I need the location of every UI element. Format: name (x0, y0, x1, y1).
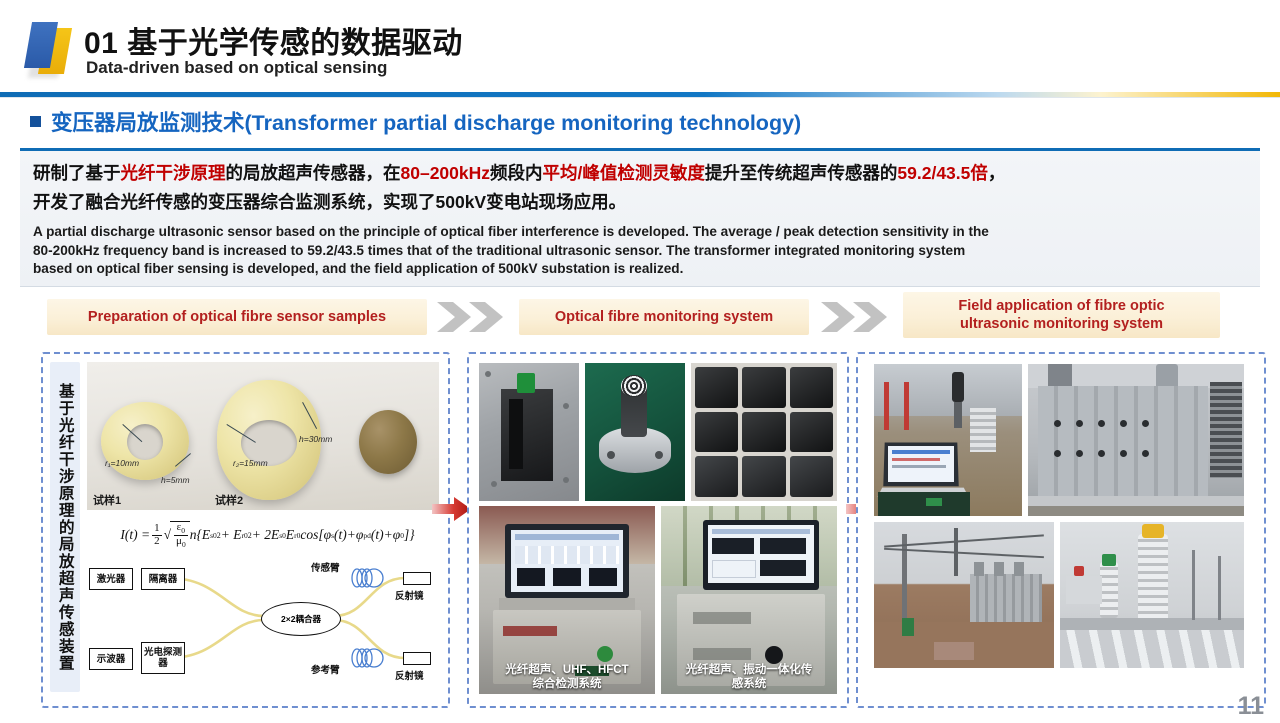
sample2-label: 试样2 (215, 492, 243, 508)
formula-ra: n{E (190, 527, 210, 543)
caption-uhf-hfct-line1: 光纤超声、UHF、HFCT (505, 664, 628, 676)
page-title-en: Data-driven based on optical sensing (86, 58, 387, 78)
diagram-mirror-top-icon (403, 572, 431, 585)
stmt-cn-line2: 开发了融合光纤传感的变压器综合监测系统，实现了500kV变电站现场应用。 (33, 192, 626, 212)
formula-rg: + 2E (252, 527, 279, 543)
slide-root: 01 基于光学传感的数据驱动 Data-driven based on opti… (0, 0, 1280, 723)
stmt-en-line2: 80-200kHz frequency band is increased to… (33, 242, 1248, 261)
diagram-sensing-arm-label: 传感臂 (311, 560, 340, 574)
formula-fraction: 1 2 (152, 523, 162, 547)
formula-eps-sub: 0 (181, 526, 185, 535)
diagram-mirror-bottom-icon (403, 652, 431, 665)
metal-flange-sensor-photo (585, 363, 685, 501)
formula-sqrt-body: ε0 μ0 (170, 521, 190, 549)
formula-rh: s0 (279, 531, 286, 540)
stmt-en-line1: A partial discharge ultrasonic sensor ba… (33, 223, 1248, 242)
formula-rk: cos[φ (300, 527, 331, 543)
chevron-right-icon-2 (819, 300, 895, 334)
header-divider-thin (0, 97, 1280, 98)
panel-monitoring-system: 光纤超声、UHF、HFCT 综合检测系统 光纤超声、振动一体化传 感系统 (467, 352, 849, 708)
summary-statement-box: 研制了基于光纤干涉原理的局放超声传感器，在80–200kHz频段内平均/峰值检测… (20, 148, 1260, 287)
diagram-mirror-bottom-label: 反射镜 (395, 668, 424, 682)
dim-h1-label: h=5mm (161, 475, 190, 485)
formula-rb: s0 (210, 531, 217, 540)
section-subheading-label: 变压器局放监测技术(Transformer partial discharge … (51, 106, 801, 137)
fiber-ultrasonic-vibration-photo: 光纤超声、振动一体化传 感系统 (661, 506, 837, 694)
diagram-oscilloscope-box: 示波器 (89, 648, 133, 670)
caption-uhf-hfct: 光纤超声、UHF、HFCT 综合检测系统 (479, 661, 655, 694)
dim-r2-label: r₂=15mm (233, 458, 268, 468)
banner-monitoring-system-label: Optical fibre monitoring system (555, 309, 773, 325)
dim-r1-label: r₁=10mm (105, 458, 139, 468)
interference-intensity-formula: I(t) = 1 2 √ ε0 μ0 n{Es02+ Er02+ 2Es0Er0… (95, 518, 440, 552)
formula-rm: (t)+φ (334, 527, 363, 543)
formula-frac-den: 2 (152, 536, 162, 548)
panel-sensor-preparation: 基于光纤干涉原理的局放超声传感装置 r₁=10mm h=5mm r₂=15mm … (41, 352, 450, 708)
banner-monitoring-system: Optical fibre monitoring system (519, 299, 809, 335)
banner-field-application: Field application of fibre optic ultraso… (903, 292, 1220, 338)
stmt-cn-a: 研制了基于 (33, 163, 121, 183)
formula-lhs: I(t) = (120, 527, 150, 543)
summary-statement-cn: 研制了基于光纤干涉原理的局放超声传感器，在80–200kHz频段内平均/峰值检测… (33, 159, 1248, 217)
brand-logo-icon (26, 22, 82, 80)
section-subheading: 变压器局放监测技术(Transformer partial discharge … (30, 106, 801, 137)
stmt-en-line3: based on optical fiber sensing is develo… (33, 260, 1248, 279)
slide-header: 01 基于光学传感的数据驱动 Data-driven based on opti… (0, 0, 1280, 92)
chevron-right-icon-1 (435, 300, 511, 334)
indoor-test-laptop-photo (874, 364, 1022, 516)
outdoor-substation-photo (874, 522, 1054, 668)
diagram-isolator-box: 隔离器 (141, 568, 185, 590)
black-optical-mount-photo (479, 363, 579, 501)
stmt-cn-e: ， (988, 163, 1006, 183)
square-bullet-icon (30, 116, 41, 127)
coin-scale-reference-icon (359, 410, 417, 474)
stmt-cn-b: 的局放超声传感器，在 (226, 163, 401, 183)
panel-field-application (856, 352, 1266, 708)
diagram-photodetector-box: 光电探测器 (141, 642, 185, 674)
summary-statement-en: A partial discharge ultrasonic sensor ba… (33, 223, 1248, 279)
banner-field-application-line1: Field application of fibre optic (958, 297, 1164, 315)
diagram-laser-box: 激光器 (89, 568, 133, 590)
vertical-label-box: 基于光纤干涉原理的局放超声传感装置 (50, 362, 80, 692)
red-arrow-icon-1 (432, 496, 472, 522)
diagram-coupler-ellipse: 2×2耦合器 (261, 602, 341, 636)
formula-ri: E (286, 527, 294, 543)
substation-bushing-photo (1060, 522, 1244, 668)
stmt-cn-d: 提升至传统超声传感器的 (705, 163, 898, 183)
ring-sample-1-icon (101, 402, 189, 480)
caption-vibration: 光纤超声、振动一体化传 感系统 (661, 661, 837, 694)
sensor-samples-photo: r₁=10mm h=5mm r₂=15mm h=30mm 试样1 试样2 (87, 362, 439, 510)
stmt-cn-hi1: 光纤干涉原理 (121, 163, 226, 183)
banner-preparation-label: Preparation of optical fibre sensor samp… (88, 309, 386, 325)
stmt-cn-hi4: 59.2/43.5倍 (897, 163, 987, 183)
caption-vibration-line2: 感系统 (732, 678, 767, 690)
stmt-cn-hi2: 80–200kHz (401, 163, 491, 183)
sample1-label: 试样1 (93, 492, 121, 508)
vertical-label-text: 基于光纤干涉原理的局放超声传感装置 (57, 383, 73, 672)
diagram-mirror-top-label: 反射镜 (395, 588, 424, 602)
caption-vibration-line1: 光纤超声、振动一体化传 (686, 664, 813, 676)
banner-field-application-line2: ultrasonic monitoring system (958, 315, 1164, 333)
formula-rd: + E (221, 527, 242, 543)
formula-ro: (t)+φ (371, 527, 400, 543)
interferometer-schematic: 激光器 隔离器 示波器 光电探测器 2×2耦合器 传感臂 参考臂 反射镜 反射镜 (89, 554, 441, 692)
formula-rq: ]} (404, 527, 415, 543)
formula-mu-sub: 0 (182, 540, 186, 549)
stmt-cn-hi3: 平均/峰值检测灵敏度 (543, 163, 705, 183)
fiber-ultrasonic-uhf-hfct-photo: 光纤超声、UHF、HFCT 综合检测系统 (479, 506, 655, 694)
caption-uhf-hfct-line2: 综合检测系统 (533, 678, 602, 690)
gray-transformer-photo (1028, 364, 1244, 516)
formula-frac-num: 1 (152, 523, 162, 536)
diagram-reference-arm-label: 参考臂 (311, 662, 340, 676)
stmt-cn-c: 频段内 (490, 163, 543, 183)
page-title-cn: 01 基于光学传感的数据驱动 (84, 18, 463, 62)
formula-rn: pd (363, 531, 371, 540)
dim-h2-label: h=30mm (299, 434, 332, 444)
banner-preparation: Preparation of optical fibre sensor samp… (47, 299, 427, 335)
page-number: 11 (1238, 692, 1264, 721)
sensor-array-grid-photo (691, 363, 837, 501)
